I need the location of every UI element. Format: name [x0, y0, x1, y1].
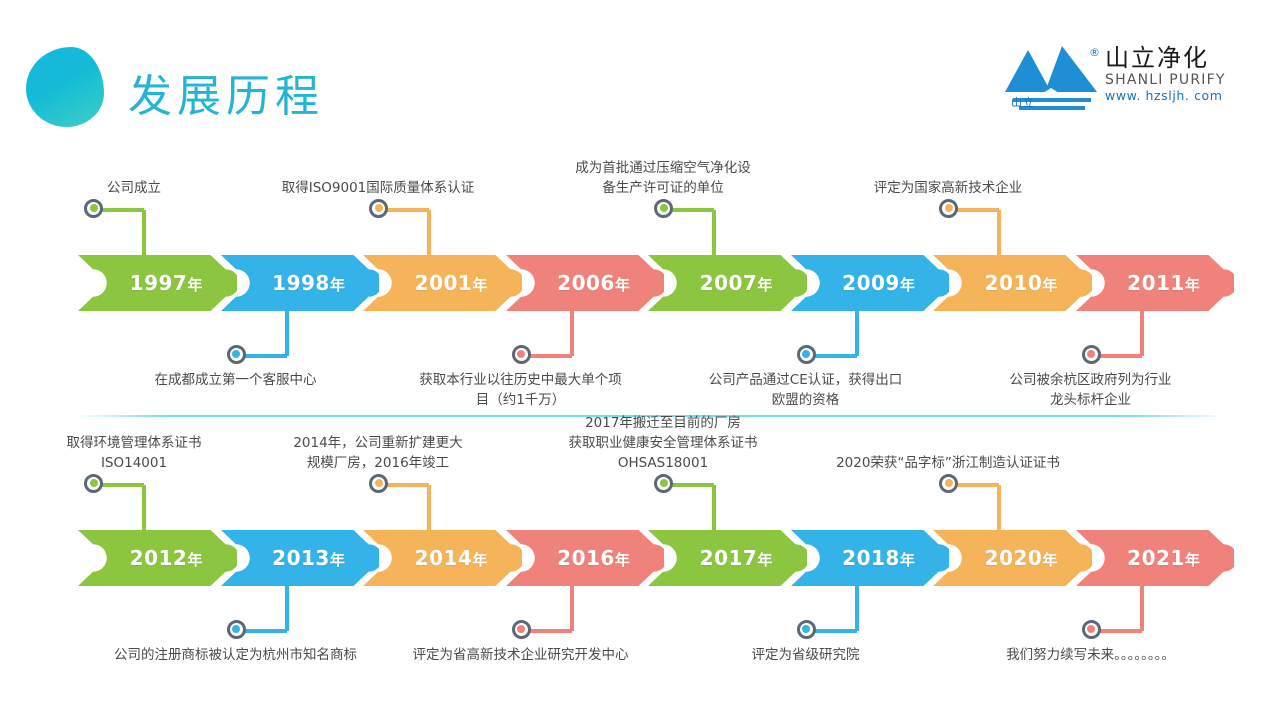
milestone-caption: 取得环境管理体系证书 ISO14001: [4, 433, 264, 473]
connector-stem: [142, 210, 146, 255]
milestone-caption: 获取本行业以往历史中最大单个项 目（约1千万）: [391, 370, 651, 410]
connector-stem: [285, 311, 289, 356]
connector-arm: [1098, 629, 1142, 633]
milestone-caption: 2020荣获“品字标”浙江制造认证证书: [818, 453, 1078, 473]
milestone-dot-icon: [939, 474, 958, 493]
chevron-band: 2012年 2013年 2014年 2016年 2017年 2018年 2020…: [78, 530, 1218, 586]
connector-arm: [243, 354, 287, 358]
connector-stem: [285, 586, 289, 631]
milestone-dot-icon: [1082, 345, 1101, 364]
connector-stem: [855, 586, 859, 631]
milestone-year-label: 1998年: [254, 271, 345, 295]
connector-stem: [427, 210, 431, 255]
page-title: 发展历程: [128, 60, 324, 124]
connector-arm: [528, 354, 572, 358]
timeline-milestone-2012[interactable]: 2012年: [78, 530, 237, 586]
chevron-knob-icon: [88, 276, 103, 291]
timeline-milestone-2010[interactable]: 2010年: [933, 255, 1092, 311]
milestone-dot-icon: [84, 474, 103, 493]
connector-arm: [813, 354, 857, 358]
slide-canvas: 发展历程 山立 ® 山立净化 SHANLI PURIFY www. hzsljh…: [0, 0, 1280, 720]
milestone-caption: 取得ISO9001国际质量体系认证: [248, 178, 508, 198]
logo-name-en: SHANLI PURIFY: [1105, 72, 1231, 88]
milestone-caption: 评定为省级研究院: [676, 645, 936, 665]
connector-stem: [1140, 586, 1144, 631]
milestone-year-label: 2007年: [682, 271, 773, 295]
milestone-caption: 评定为国家高新技术企业: [818, 178, 1078, 198]
milestone-year-label: 2012年: [112, 546, 203, 570]
milestone-dot-icon: [227, 345, 246, 364]
connector-stem: [997, 210, 1001, 255]
connector-arm: [385, 208, 429, 212]
connector-arm: [813, 629, 857, 633]
timeline-milestone-2016[interactable]: 2016年: [506, 530, 665, 586]
milestone-year-label: 1997年: [112, 271, 203, 295]
connector-stem: [855, 311, 859, 356]
connector-arm: [100, 208, 144, 212]
milestone-caption: 公司产品通过CE认证，获得出口 欧盟的资格: [676, 370, 936, 410]
connector-arm: [100, 483, 144, 487]
connector-stem: [1140, 311, 1144, 356]
timeline-milestone-2014[interactable]: 2014年: [363, 530, 522, 586]
milestone-year-label: 2001年: [397, 271, 488, 295]
milestone-dot-icon: [654, 199, 673, 218]
connector-arm: [955, 208, 999, 212]
timeline-milestone-2018[interactable]: 2018年: [791, 530, 950, 586]
timeline-milestone-2017[interactable]: 2017年: [648, 530, 807, 586]
timeline-milestone-1998[interactable]: 1998年: [221, 255, 380, 311]
connector-arm: [955, 483, 999, 487]
milestone-caption: 在成都成立第一个客服中心: [106, 370, 366, 390]
connector-stem: [712, 210, 716, 255]
milestone-dot-icon: [369, 474, 388, 493]
milestone-caption: 评定为省高新技术企业研究开发中心: [391, 645, 651, 665]
connector-arm: [670, 483, 714, 487]
milestone-year-label: 2016年: [539, 546, 630, 570]
connector-stem: [997, 485, 1001, 530]
milestone-dot-icon: [939, 199, 958, 218]
company-logo: 山立 ® 山立净化 SHANLI PURIFY www. hzsljh. com: [1005, 44, 1225, 124]
milestone-dot-icon: [654, 474, 673, 493]
chevron-band: 1997年 1998年 2001年 2006年 2007年 2009年 2010…: [78, 255, 1218, 311]
connector-stem: [570, 586, 574, 631]
milestone-dot-icon: [84, 199, 103, 218]
milestone-caption: 公司的注册商标被认定为杭州市知名商标: [106, 645, 366, 665]
milestone-dot-icon: [512, 345, 531, 364]
milestone-year-label: 2010年: [967, 271, 1058, 295]
registered-mark-icon: ®: [1089, 46, 1100, 59]
connector-stem: [712, 485, 716, 530]
logo-website: www. hzsljh. com: [1105, 88, 1231, 103]
connector-stem: [142, 485, 146, 530]
connector-arm: [670, 208, 714, 212]
logo-name-cn: 山立净化: [1105, 44, 1231, 72]
milestone-caption: 成为首批通过压缩空气净化设 备生产许可证的单位: [533, 158, 793, 198]
milestone-caption: 公司被余杭区政府列为行业 龙头标杆企业: [961, 370, 1221, 410]
timeline-milestone-2013[interactable]: 2013年: [221, 530, 380, 586]
connector-arm: [1098, 354, 1142, 358]
timeline-milestone-2001[interactable]: 2001年: [363, 255, 522, 311]
milestone-caption: 公司成立: [4, 178, 264, 198]
milestone-dot-icon: [797, 345, 816, 364]
milestone-year-label: 2013年: [254, 546, 345, 570]
blob-decoration-icon: [26, 47, 104, 127]
connector-arm: [528, 629, 572, 633]
milestone-year-label: 2021年: [1109, 546, 1200, 570]
milestone-caption: 2017年搬迁至目前的厂房 获取职业健康安全管理体系证书 OHSAS18001: [533, 413, 793, 473]
milestone-year-label: 2014年: [397, 546, 488, 570]
timeline-milestone-2009[interactable]: 2009年: [791, 255, 950, 311]
timeline-milestone-2006[interactable]: 2006年: [506, 255, 665, 311]
milestone-dot-icon: [512, 620, 531, 639]
milestone-year-label: 2017年: [682, 546, 773, 570]
milestone-year-label: 2009年: [824, 271, 915, 295]
milestone-year-label: 2020年: [967, 546, 1058, 570]
timeline-milestone-2011[interactable]: 2011年: [1076, 255, 1235, 311]
timeline-milestone-1997[interactable]: 1997年: [78, 255, 237, 311]
connector-stem: [427, 485, 431, 530]
timeline-row-2: 2012年 2013年 2014年 2016年 2017年 2018年 2020…: [0, 425, 1280, 675]
milestone-year-label: 2018年: [824, 546, 915, 570]
timeline-milestone-2020[interactable]: 2020年: [933, 530, 1092, 586]
timeline-row-1: 1997年 1998年 2001年 2006年 2007年 2009年 2010…: [0, 150, 1280, 400]
timeline-milestone-2007[interactable]: 2007年: [648, 255, 807, 311]
milestone-year-label: 2006年: [539, 271, 630, 295]
logo-mark-label: 山立: [1011, 94, 1035, 110]
chevron-knob-icon: [88, 551, 103, 566]
connector-arm: [243, 629, 287, 633]
milestone-dot-icon: [797, 620, 816, 639]
milestone-dot-icon: [227, 620, 246, 639]
connector-arm: [385, 483, 429, 487]
milestone-dot-icon: [1082, 620, 1101, 639]
connector-stem: [570, 311, 574, 356]
milestone-caption: 2014年，公司重新扩建更大 规模厂房，2016年竣工: [248, 433, 508, 473]
milestone-year-label: 2011年: [1109, 271, 1200, 295]
timeline-milestone-2021[interactable]: 2021年: [1076, 530, 1235, 586]
milestone-dot-icon: [369, 199, 388, 218]
milestone-caption: 我们努力续写未来。。。。。。。。: [961, 645, 1221, 665]
